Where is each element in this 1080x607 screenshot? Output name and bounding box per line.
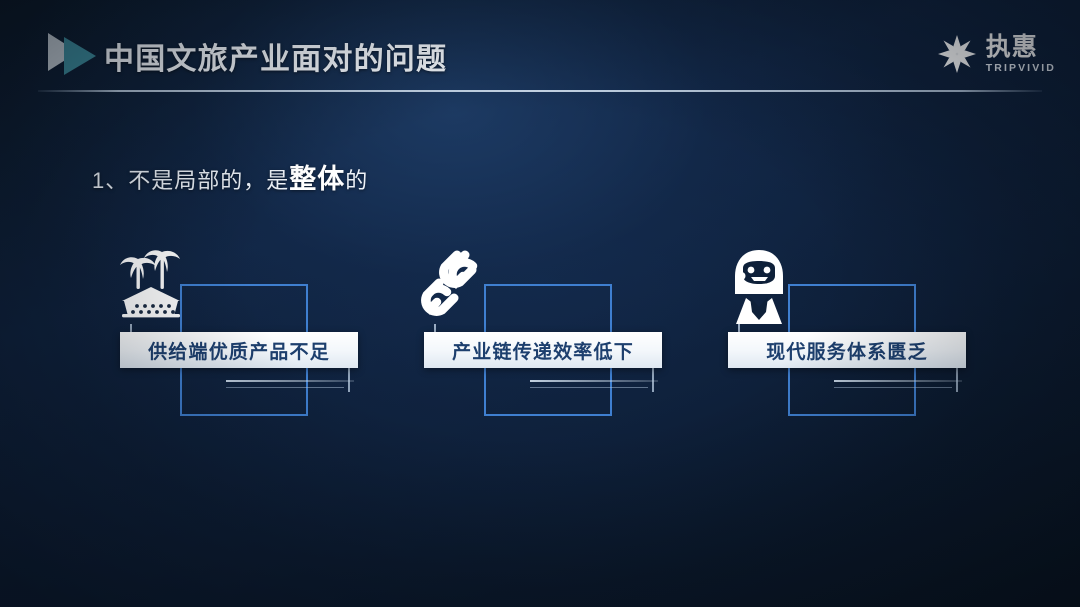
accent-tick-right bbox=[652, 368, 654, 392]
card-label-text: 产业链传递效率低下 bbox=[452, 337, 634, 364]
accent-tick-right bbox=[956, 368, 958, 392]
headset-service-agent-icon bbox=[722, 246, 796, 328]
problem-card[interactable]: 产业链传递效率低下 bbox=[412, 248, 722, 428]
card-label-text: 现代服务体系匮乏 bbox=[766, 337, 928, 364]
accent-line-lower-thin bbox=[530, 387, 648, 388]
accent-line-lower-thin bbox=[834, 387, 952, 388]
card-label-bar[interactable]: 供给端优质产品不足 bbox=[120, 332, 358, 368]
card-label-bar[interactable]: 现代服务体系匮乏 bbox=[728, 332, 966, 368]
accent-line-lower bbox=[226, 380, 354, 382]
problem-card[interactable]: 供给端优质产品不足 bbox=[108, 248, 418, 428]
card-label-text: 供给端优质产品不足 bbox=[148, 337, 330, 364]
accent-line-lower-thin bbox=[226, 387, 344, 388]
broken-chain-link-icon bbox=[418, 246, 492, 328]
palm-tree-beach-hut-icon bbox=[114, 246, 188, 328]
accent-line-lower bbox=[530, 380, 658, 382]
slide-root: 中国文旅产业面对的问题 执惠 TRIPVIVID bbox=[0, 0, 1080, 607]
accent-tick-right bbox=[348, 368, 350, 392]
card-label-bar[interactable]: 产业链传递效率低下 bbox=[424, 332, 662, 368]
problem-card[interactable]: 现代服务体系匮乏 bbox=[716, 248, 1026, 428]
accent-line-lower bbox=[834, 380, 962, 382]
problem-card-group: 供给端优质产品不足 bbox=[0, 0, 1080, 607]
